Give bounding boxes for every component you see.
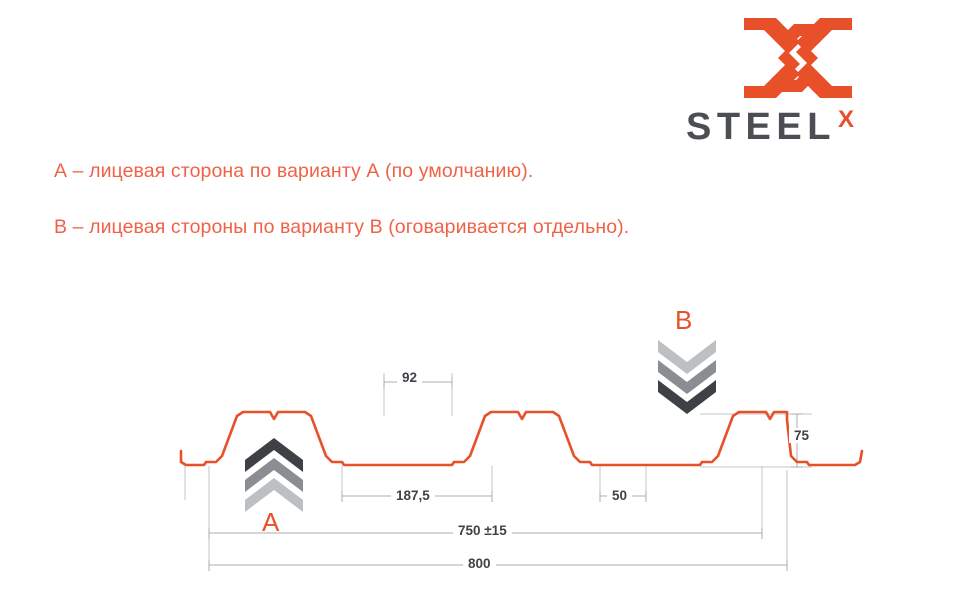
corrugated-profile-outline xyxy=(181,412,862,465)
dimension-label-rib-width: 92 xyxy=(397,370,422,385)
dimension-label-overall-width: 800 xyxy=(463,556,496,571)
dimension-lines xyxy=(209,377,803,571)
dimension-label-valley-width: 50 xyxy=(607,488,632,503)
chevron-up-triple-icon xyxy=(245,438,303,512)
marker-label-b: B xyxy=(675,307,692,333)
profile-technical-drawing xyxy=(0,0,970,597)
marker-label-a: A xyxy=(262,509,279,535)
drawing-page: STEEL X А – лицевая сторона по варианту … xyxy=(0,0,970,597)
dimension-label-pitch: 187,5 xyxy=(391,488,435,503)
dimension-label-height: 75 xyxy=(789,428,814,443)
chevron-down-triple-icon xyxy=(658,340,716,414)
dimension-label-useful-width: 750 ±15 xyxy=(453,523,512,538)
